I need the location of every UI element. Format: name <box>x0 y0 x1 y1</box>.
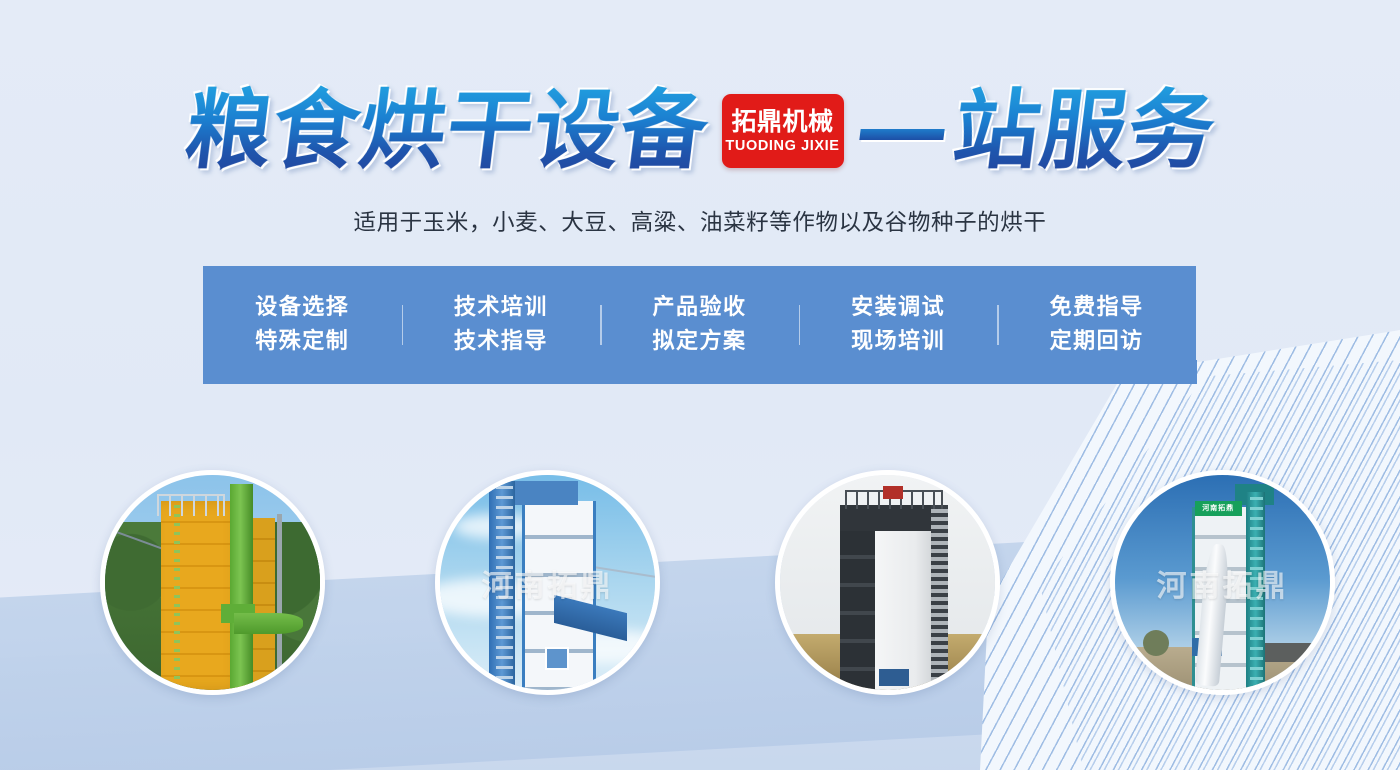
bucket-elevator <box>230 484 254 690</box>
feature-line-2: 现场培训 <box>851 325 945 359</box>
feature-line-1: 技术培训 <box>454 291 548 325</box>
brand-name-en: TUODING JIXIE <box>725 138 839 155</box>
brand-name-cn: 拓鼎机械 <box>731 108 833 135</box>
ladder <box>1250 497 1263 691</box>
feature-line-1: 安装调试 <box>851 291 945 325</box>
feature-item-2[interactable]: 产品验收 拟定方案 <box>600 291 799 359</box>
feature-item-1[interactable]: 技术培训 技术指导 <box>402 291 601 359</box>
bucket-elevator <box>931 505 948 690</box>
headline-main: 粮食烘干设备 <box>180 84 714 178</box>
hopper <box>879 669 909 686</box>
product-photo-row: 河南拓鼎 <box>0 440 1400 690</box>
feature-line-2: 技术指导 <box>454 325 548 359</box>
headline-row: 粮食烘干设备 拓鼎机械 TUODING JIXIE 站服务 <box>0 78 1400 184</box>
feature-line-1: 产品验收 <box>652 291 746 325</box>
product-photo-yellow-dryer[interactable] <box>100 470 325 695</box>
product-photo-teal-dryer[interactable]: 河南拓鼎 河南拓鼎 <box>1110 470 1335 695</box>
feature-line-1: 免费指导 <box>1050 291 1144 325</box>
feature-item-3[interactable]: 安装调试 现场培训 <box>799 291 998 359</box>
feature-line-2: 拟定方案 <box>652 325 746 359</box>
product-photo-grey-dryer[interactable] <box>775 470 1000 695</box>
ladder <box>174 505 180 686</box>
dryer-column-dark <box>840 531 874 690</box>
top-railing <box>157 494 226 515</box>
headline-tail: 站服务 <box>948 84 1221 178</box>
photo-scene: 河南拓鼎 <box>1115 475 1330 690</box>
tower-sign: 河南拓鼎 <box>1195 501 1242 516</box>
feature-line-2: 定期回访 <box>1050 325 1144 359</box>
dryer-tower <box>870 505 939 690</box>
photo-scene <box>780 475 995 690</box>
ladder <box>496 486 513 686</box>
tower-sign-label: 河南拓鼎 <box>1202 503 1234 513</box>
photo-scene <box>440 475 655 690</box>
brand-logo-badge: 拓鼎机械 TUODING JIXIE <box>722 94 844 168</box>
product-photo-blue-dryer[interactable]: 河南拓鼎 <box>435 470 660 695</box>
feature-line-2: 特殊定制 <box>255 325 349 359</box>
discharge-duct <box>234 613 303 635</box>
tree <box>1143 630 1169 656</box>
red-marker <box>883 486 902 499</box>
feature-item-4[interactable]: 免费指导 定期回访 <box>997 291 1196 359</box>
feature-line-1: 设备选择 <box>255 291 349 325</box>
subtitle: 适用于玉米，小麦、大豆、高粱、油菜籽等作物以及谷物种子的烘干 <box>0 205 1400 237</box>
utility-pole <box>277 514 282 690</box>
access-door <box>545 647 568 670</box>
promo-banner: 粮食烘干设备 拓鼎机械 TUODING JIXIE 站服务 适用于玉米，小麦、大… <box>0 0 1400 770</box>
long-dash-icon <box>859 129 944 140</box>
feature-item-0[interactable]: 设备选择 特殊定制 <box>203 291 402 359</box>
service-feature-bar: 设备选择 特殊定制 技术培训 技术指导 产品验收 拟定方案 安装调试 现场培训 … <box>203 266 1196 384</box>
photo-scene <box>105 475 320 690</box>
